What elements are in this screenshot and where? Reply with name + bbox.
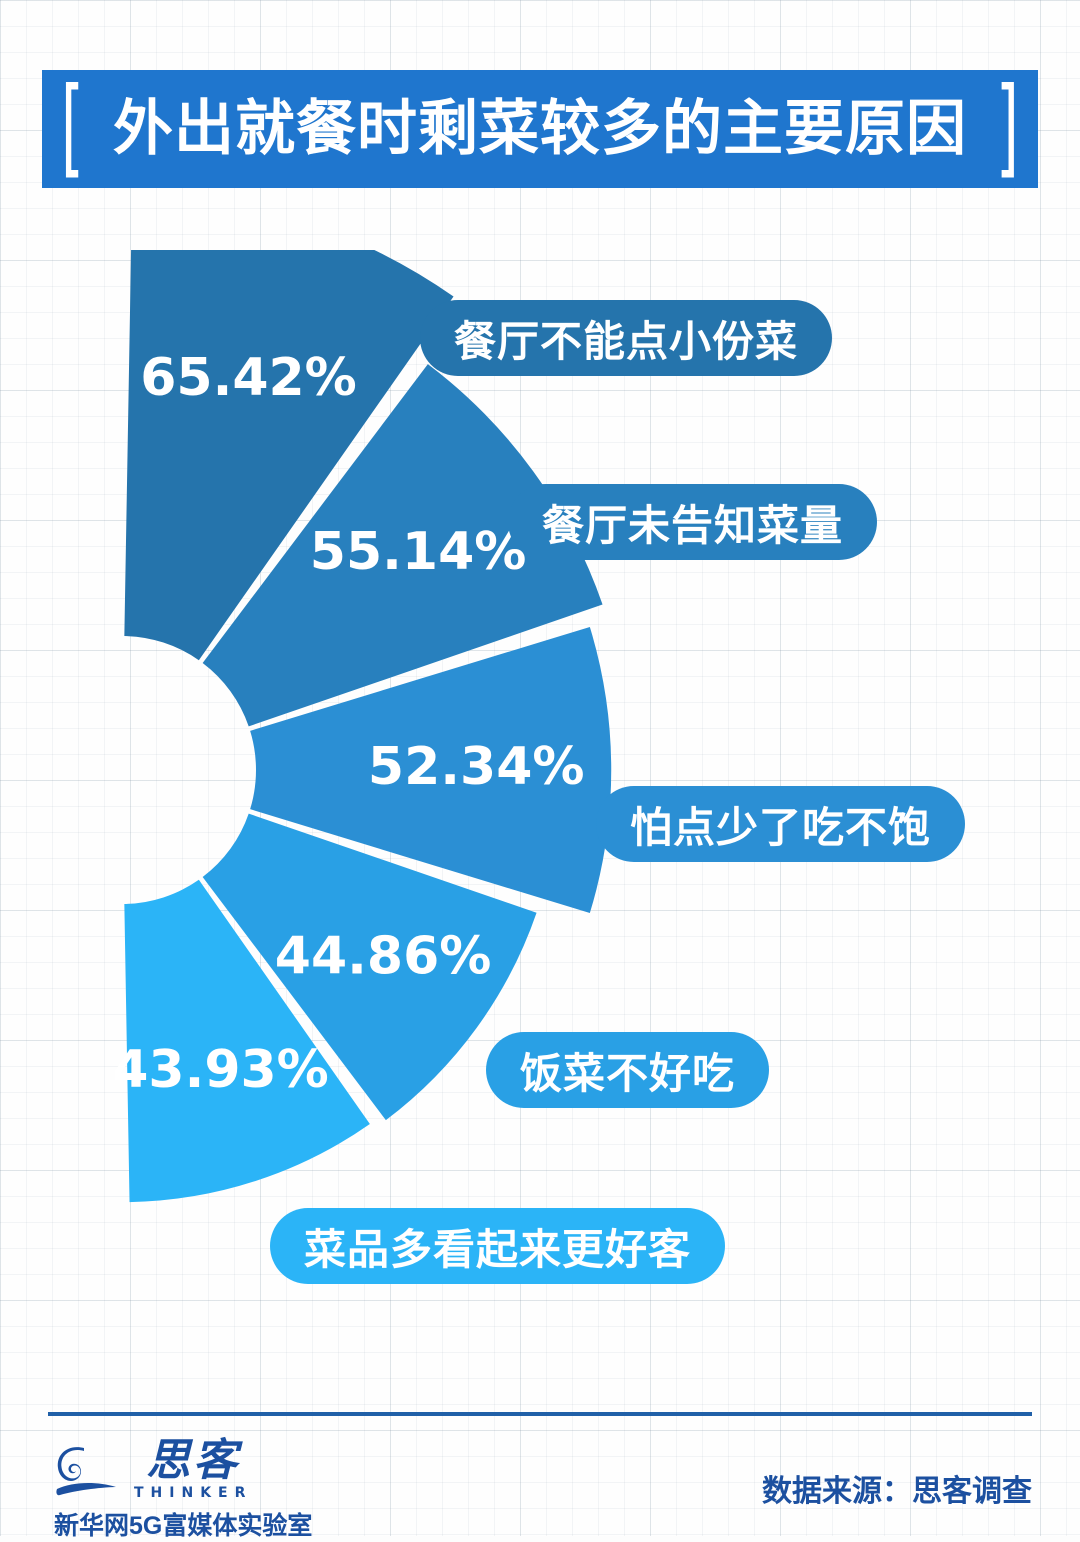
donut-chart-svg: 65.42%55.14%52.34%44.86%43.93%	[0, 250, 1080, 1280]
slice-value-label: 52.34%	[368, 737, 585, 797]
slice-value-label: 43.93%	[112, 1040, 329, 1100]
footer: 思客 THINKER 新华网5G富媒体实验室 数据来源：思客调查	[0, 1424, 1080, 1536]
brand-logo: 思客 THINKER 新华网5G富媒体实验室	[54, 1438, 384, 1542]
category-pill-1[interactable]: 餐厅未告知菜量	[508, 484, 877, 560]
page-title: 外出就餐时剩菜较多的主要原因	[113, 99, 967, 159]
slice-value-label: 55.14%	[310, 522, 527, 582]
slice-value-label: 65.42%	[140, 348, 357, 408]
logo-chinese-name: 思客	[146, 1439, 240, 1483]
logo-subtitle: 新华网5G富媒体实验室	[54, 1506, 384, 1542]
category-pill-4[interactable]: 菜品多看起来更好客	[270, 1208, 725, 1284]
slice-value-label: 44.86%	[275, 927, 492, 987]
category-pill-3[interactable]: 饭菜不好吃	[486, 1032, 769, 1108]
category-pill-2[interactable]: 怕点少了吃不饱	[596, 786, 965, 862]
rose-donut-chart: 65.42%55.14%52.34%44.86%43.93%	[0, 250, 1080, 1280]
logo-english-name: THINKER	[134, 1486, 252, 1500]
data-source-text: 数据来源：思客调查	[762, 1466, 1032, 1510]
thinker-swirl-icon	[54, 1442, 130, 1500]
bracket-left-icon: [	[61, 73, 84, 180]
title-banner: [ 外出就餐时剩菜较多的主要原因 ]	[42, 70, 1038, 188]
bracket-right-icon: ]	[996, 73, 1019, 180]
footer-divider	[48, 1412, 1032, 1416]
category-pill-0[interactable]: 餐厅不能点小份菜	[420, 300, 832, 376]
